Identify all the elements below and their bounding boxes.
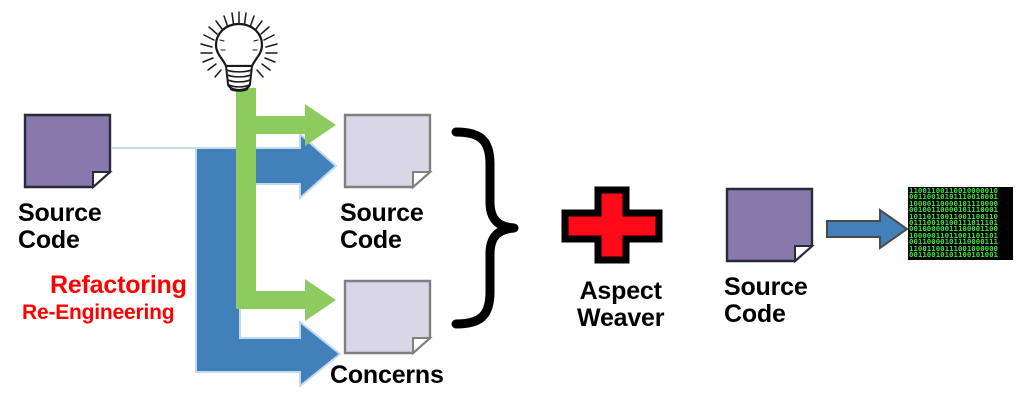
- source-code-input-document: [22, 112, 116, 190]
- lightbulb-icon: [192, 6, 288, 92]
- binary-row: 00110010101100101001: [909, 252, 1013, 258]
- source-code-input-label: Source Code: [18, 200, 102, 253]
- green-idea-arrow: [236, 88, 336, 321]
- right-curly-brace-icon: [452, 126, 542, 331]
- diagram-canvas: Source Code Refactoring Re-Engineering S…: [0, 0, 1028, 420]
- red-cross-plus-icon: [560, 186, 664, 264]
- blue-refactoring-arrow: [112, 134, 340, 386]
- compile-arrow: [824, 206, 910, 252]
- source-code-output-label: Source Code: [340, 200, 424, 253]
- binary-code-image: 11001100110010000010 0011001010111001000…: [908, 187, 1013, 260]
- source-code-weaved-document: [724, 186, 818, 264]
- re-engineering-label: Re-Engineering: [22, 302, 174, 324]
- concerns-label: Concerns: [330, 362, 444, 389]
- source-code-output-document: [342, 112, 436, 190]
- refactoring-label: Refactoring: [50, 272, 187, 299]
- aspect-weaver-label: Aspect Weaver: [577, 278, 664, 331]
- source-code-weaved-label: Source Code: [724, 274, 808, 327]
- concerns-document: [342, 278, 436, 356]
